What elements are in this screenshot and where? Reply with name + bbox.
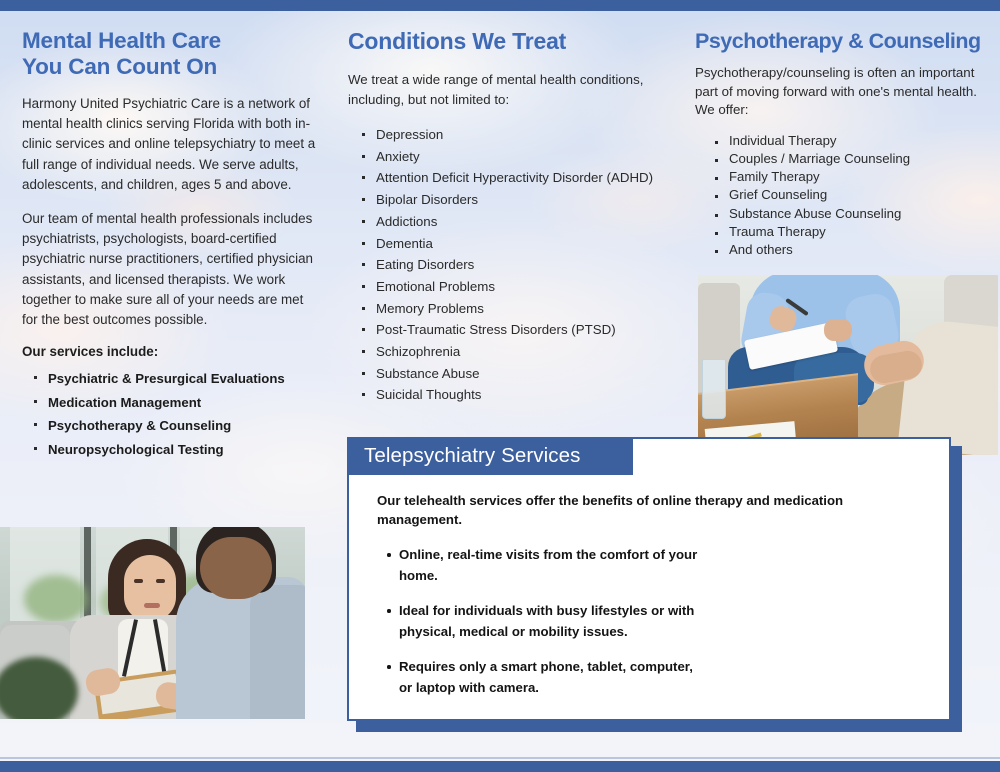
list-item: Trauma Therapy [727,223,990,241]
telepsychiatry-panel-header: Telepsychiatry Services [347,437,633,475]
photo-inner [0,527,305,719]
list-item: Couples / Marriage Counseling [727,150,990,168]
offerings-list: Individual Therapy Couples / Marriage Co… [695,132,990,259]
intro-paragraph-2: Our team of mental health professionals … [22,209,322,330]
psychotherapy-intro: Psychotherapy/counseling is often an imp… [695,64,990,120]
conditions-intro: We treat a wide range of mental health c… [348,70,678,110]
conditions-heading: Conditions We Treat [348,28,678,54]
bottom-accent-hairline [0,757,1000,759]
list-item: Individual Therapy [727,132,990,150]
list-item: Neuropsychological Testing [46,438,322,462]
list-item: Online, real-time visits from the comfor… [399,545,699,586]
conditions-list: Depression Anxiety Attention Deficit Hyp… [348,124,678,406]
bottom-accent-bar [0,761,1000,772]
list-item: Grief Counseling [727,186,990,204]
list-item: Bipolar Disorders [374,189,678,211]
list-item: Addictions [374,211,678,233]
right-column: Psychotherapy & Counseling Psychotherapy… [695,28,990,259]
list-item: Family Therapy [727,168,990,186]
therapy-session-photo [698,275,998,455]
list-item: Anxiety [374,146,678,168]
page-title-line1: Mental Health Care [22,28,221,53]
middle-column: Conditions We Treat We treat a wide rang… [348,28,678,406]
page-title: Mental Health Care You Can Count On [22,28,322,80]
counseling-session-photo [0,527,305,719]
list-item: Schizophrenia [374,341,678,363]
intro-paragraph-1: Harmony United Psychiatric Care is a net… [22,94,322,195]
list-item: Medication Management [46,391,322,415]
list-item: Memory Problems [374,298,678,320]
list-item: Eating Disorders [374,254,678,276]
list-item: Psychotherapy & Counseling [46,414,322,438]
list-item: Post-Traumatic Stress Disorders (PTSD) [374,319,678,341]
list-item: Requires only a smart phone, tablet, com… [399,657,699,698]
left-column: Mental Health Care You Can Count On Harm… [22,28,322,461]
psychotherapy-heading: Psychotherapy & Counseling [695,28,990,54]
list-item: And others [727,241,990,259]
list-item: Psychiatric & Presurgical Evaluations [46,367,322,391]
list-item: Dementia [374,233,678,255]
page-title-line2: You Can Count On [22,54,217,79]
list-item: Attention Deficit Hyperactivity Disorder… [374,167,678,189]
services-lead: Our services include: [22,344,322,359]
list-item: Depression [374,124,678,146]
photo-inner [698,275,998,455]
telepsychiatry-benefits-list: Online, real-time visits from the comfor… [377,545,699,698]
list-item: Suicidal Thoughts [374,384,678,406]
list-item: Substance Abuse Counseling [727,205,990,223]
services-list: Psychiatric & Presurgical Evaluations Me… [22,367,322,461]
list-item: Substance Abuse [374,363,678,385]
list-item: Ideal for individuals with busy lifestyl… [399,601,699,642]
telepsychiatry-panel-body: Our telehealth services offer the benefi… [377,492,932,713]
top-accent-bar [0,0,1000,11]
telepsychiatry-intro: Our telehealth services offer the benefi… [377,492,847,529]
list-item: Emotional Problems [374,276,678,298]
telepsychiatry-title: Telepsychiatry Services [347,444,581,468]
